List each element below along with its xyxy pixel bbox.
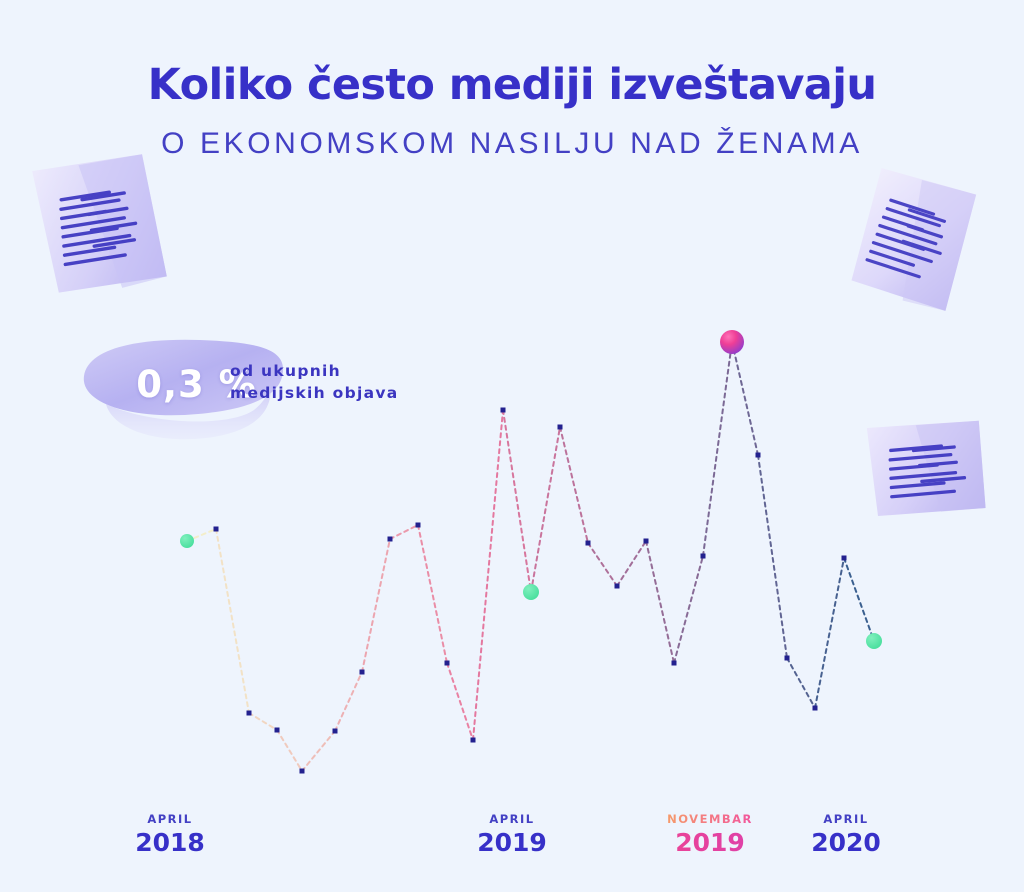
chart-line-segments: [187, 342, 874, 771]
chart-line-segment: [732, 342, 758, 455]
chart-data-marker: [785, 656, 790, 661]
chart-line-segment: [216, 529, 249, 713]
chart-data-marker: [416, 523, 421, 528]
start-point[interactable]: [180, 534, 194, 548]
chart-data-marker: [300, 769, 305, 774]
chart-data-marker: [501, 408, 506, 413]
chart-data-marker: [214, 527, 219, 532]
chart-data-marker: [333, 729, 338, 734]
chart-line-segment: [703, 342, 732, 556]
chart-data-marker: [586, 541, 591, 546]
chart-line-segment: [447, 663, 473, 740]
chart-data-marker: [615, 584, 620, 589]
chart-line-segment: [277, 730, 302, 771]
chart-line-segment: [646, 541, 674, 663]
chart-data-marker: [360, 670, 365, 675]
chart-line-segment: [418, 525, 447, 663]
line-chart: [0, 0, 1024, 892]
peak-point[interactable]: [720, 330, 744, 354]
chart-line-segment: [390, 525, 418, 539]
chart-line-segment: [844, 558, 874, 641]
chart-data-marker: [275, 728, 280, 733]
chart-line-segment: [617, 541, 646, 586]
chart-data-marker: [247, 711, 252, 716]
chart-line-segment: [815, 558, 844, 708]
infographic-canvas: Koliko često mediji izveštavaju O EKONOM…: [0, 0, 1024, 892]
chart-highlight-points: [180, 330, 882, 649]
chart-data-marker: [701, 554, 706, 559]
chart-line-segment: [362, 539, 390, 672]
chart-data-marker: [471, 738, 476, 743]
chart-line-segment: [335, 672, 362, 731]
chart-data-marker: [445, 661, 450, 666]
chart-line-segment: [674, 556, 703, 663]
chart-line-segment: [503, 410, 531, 592]
chart-data-marker: [644, 539, 649, 544]
chart-line-segment: [787, 658, 815, 708]
chart-data-marker: [813, 706, 818, 711]
end-point[interactable]: [866, 633, 882, 649]
chart-data-marker: [388, 537, 393, 542]
chart-data-marker: [842, 556, 847, 561]
chart-data-marker: [558, 425, 563, 430]
chart-data-marker: [756, 453, 761, 458]
mid-point[interactable]: [523, 584, 539, 600]
chart-line-segment: [473, 410, 503, 740]
chart-line-segment: [588, 543, 617, 586]
chart-line-segment: [531, 427, 560, 592]
chart-data-marker: [672, 661, 677, 666]
chart-line-segment: [302, 731, 335, 771]
chart-line-segment: [758, 455, 787, 658]
chart-line-segment: [560, 427, 588, 543]
chart-line-segment: [249, 713, 277, 730]
